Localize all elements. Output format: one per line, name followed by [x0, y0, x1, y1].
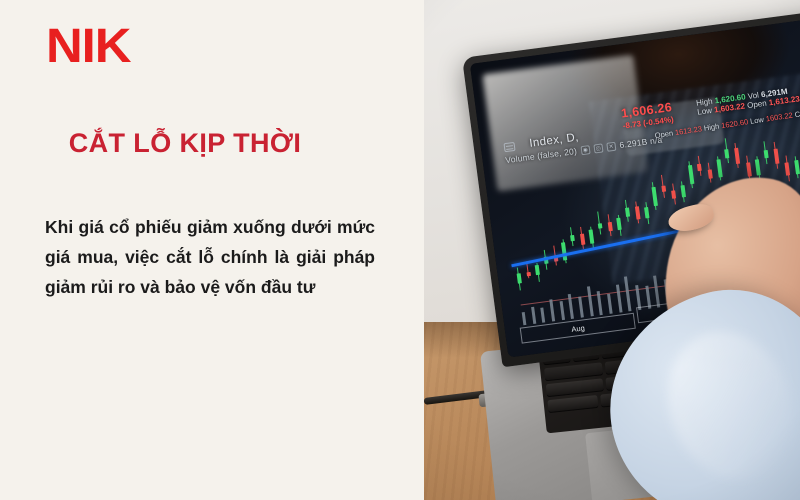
candle-body: [535, 265, 540, 275]
candle-body: [598, 223, 603, 229]
ohlc-open-label: Open: [654, 128, 673, 140]
brand-logo: NIK: [46, 23, 130, 71]
ohlc-open-value: 1613.23: [674, 124, 702, 137]
candle-body: [634, 206, 640, 219]
ohlc-close-label: Close: [794, 107, 800, 119]
eye-icon[interactable]: ◉: [580, 145, 590, 155]
candle-body: [625, 208, 630, 217]
close-icon[interactable]: ✕: [606, 142, 616, 152]
candle-body: [680, 185, 686, 198]
candle-body: [570, 235, 575, 241]
ohlc-low-value: 1603.22: [765, 110, 793, 123]
candle-body: [651, 187, 657, 206]
page-title: CẮT LỖ KỊP THỜI: [0, 127, 370, 159]
body-paragraph: Khi giá cổ phiếu giảm xuống dưới mức giá…: [45, 212, 375, 302]
photo-panel: Index, D, Volume (false, 20) ◉ ◎ ✕ 6.291…: [424, 0, 800, 500]
candle-body: [716, 159, 722, 178]
candle-body: [708, 170, 713, 179]
price-quote-block: 1,606.26 -8.73 (-0.54%): [620, 100, 674, 130]
candle-body: [724, 149, 729, 158]
candle-body: [773, 148, 779, 164]
candle-body: [607, 221, 612, 231]
candle-body: [688, 165, 694, 184]
low-label: Low: [697, 105, 713, 116]
candle-body: [671, 190, 676, 199]
gear-icon[interactable]: ◎: [593, 143, 603, 153]
ohlc-high-label: High: [703, 121, 720, 132]
candle-body: [794, 160, 800, 174]
candle-body: [526, 272, 531, 277]
promo-card: NIK CẮT LỖ KỊP THỜI Khi giá cổ phiếu giả…: [0, 0, 800, 500]
candle-body: [580, 234, 585, 246]
candle-body: [746, 162, 752, 176]
text-panel: NIK CẮT LỖ KỊP THỜI Khi giá cổ phiếu giả…: [0, 0, 424, 500]
candle-body: [661, 186, 666, 192]
keyboard-key[interactable]: [547, 395, 598, 413]
candle-body: [644, 207, 649, 219]
candle-body: [697, 164, 702, 171]
axis-tick-aug[interactable]: Aug: [520, 313, 636, 344]
candle-body: [616, 217, 622, 230]
ohlc-high-value: 1620.60: [720, 117, 748, 130]
candle-body: [561, 242, 567, 261]
candle-body: [589, 230, 595, 244]
candle-body: [785, 163, 791, 176]
ohlc-low-label: Low: [749, 115, 764, 126]
open-label: Open: [747, 98, 768, 109]
body-text: Khi giá cổ phiếu giảm xuống dưới mức giá…: [45, 212, 375, 302]
candle-body: [734, 148, 740, 164]
candle-body: [764, 150, 769, 159]
candle-body: [755, 159, 761, 175]
